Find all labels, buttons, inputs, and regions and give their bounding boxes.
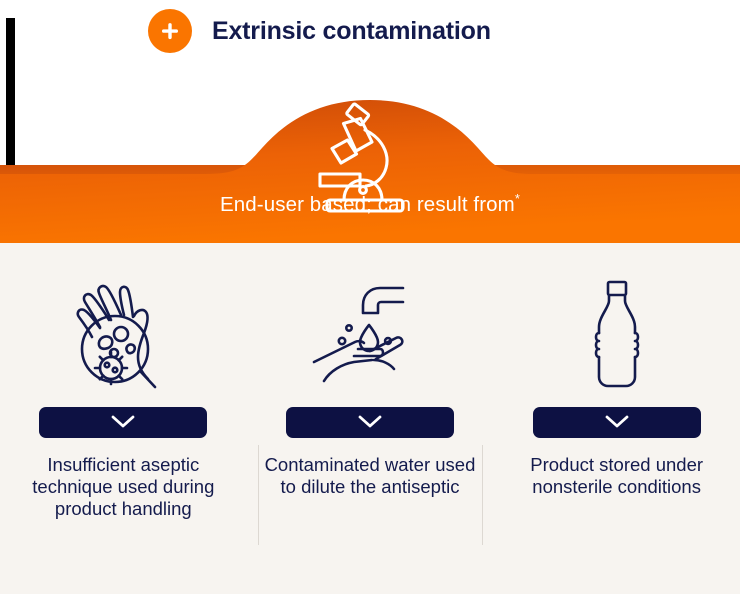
hero-banner-label: End-user based; can result from [220, 193, 515, 216]
chevron-down-icon [604, 414, 630, 432]
content-panel: Insufficient aseptic technique used duri… [0, 243, 740, 594]
expand-button-column-3[interactable] [533, 407, 701, 438]
water-bottle-icon [584, 275, 650, 395]
cause-caption-3: Product stored under nonsterile conditio… [509, 454, 724, 498]
cause-column-1: Insufficient aseptic technique used duri… [0, 243, 247, 519]
chevron-down-icon [357, 414, 383, 432]
faucet-handwash-icon [308, 275, 432, 395]
cause-caption-1: Insufficient aseptic technique used duri… [16, 454, 231, 519]
extrinsic-contamination-card: Extrinsic contamination [0, 0, 740, 594]
cause-columns: Insufficient aseptic technique used duri… [0, 243, 740, 519]
hero-banner-text: End-user based; can result from* [0, 193, 740, 217]
page-title: Extrinsic contamination [212, 17, 491, 46]
card-header: Extrinsic contamination [0, 0, 740, 62]
footnote-marker: * [515, 191, 520, 206]
cause-column-2: Contaminated water used to dilute the an… [247, 243, 494, 519]
cause-column-3: Product stored under nonsterile conditio… [493, 243, 740, 519]
expand-button-column-2[interactable] [286, 407, 454, 438]
hand-germs-icon [64, 275, 182, 395]
expand-button-column-1[interactable] [39, 407, 207, 438]
chevron-down-icon [110, 414, 136, 432]
plus-icon[interactable] [148, 9, 192, 53]
cause-caption-2: Contaminated water used to dilute the an… [262, 454, 477, 498]
